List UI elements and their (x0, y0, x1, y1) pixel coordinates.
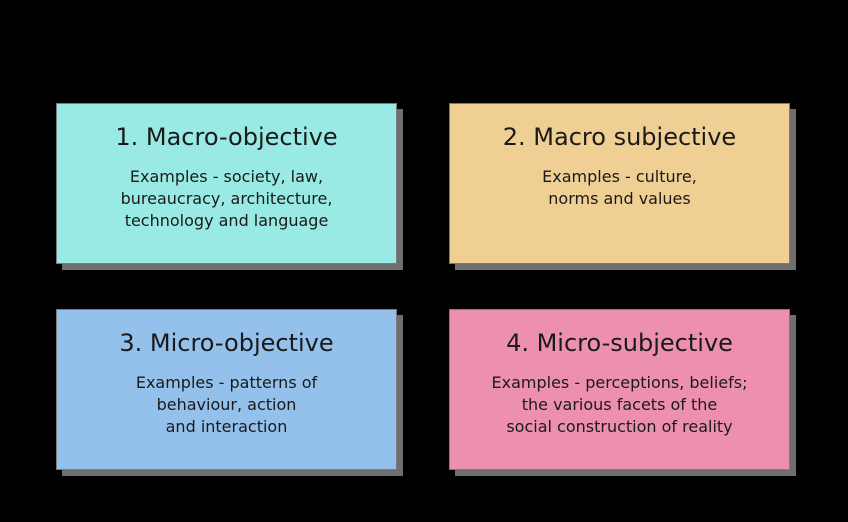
quadrant-micro-objective[interactable]: 3. Micro-objective Examples - patterns o… (56, 309, 397, 470)
quadrant-diagram: 1. Macro-objective Examples - society, l… (0, 0, 848, 522)
quadrant-title: 4. Micro-subjective (506, 330, 733, 356)
quadrant-macro-subjective[interactable]: 2. Macro subjective Examples - culture, … (449, 103, 790, 264)
quadrant-micro-subjective[interactable]: 4. Micro-subjective Examples - perceptio… (449, 309, 790, 470)
quadrant-body-text: Examples - culture, norms and values (534, 166, 705, 209)
quadrant-body-text: Examples - perceptions, beliefs; the var… (484, 372, 756, 437)
quadrant-title: 1. Macro-objective (115, 124, 337, 150)
quadrant-title: 2. Macro subjective (503, 124, 736, 150)
quadrant-macro-objective[interactable]: 1. Macro-objective Examples - society, l… (56, 103, 397, 264)
quadrant-body-text: Examples - patterns of behaviour, action… (128, 372, 325, 437)
quadrant-title: 3. Micro-objective (119, 330, 333, 356)
quadrant-body-text: Examples - society, law, bureaucracy, ar… (113, 166, 341, 231)
